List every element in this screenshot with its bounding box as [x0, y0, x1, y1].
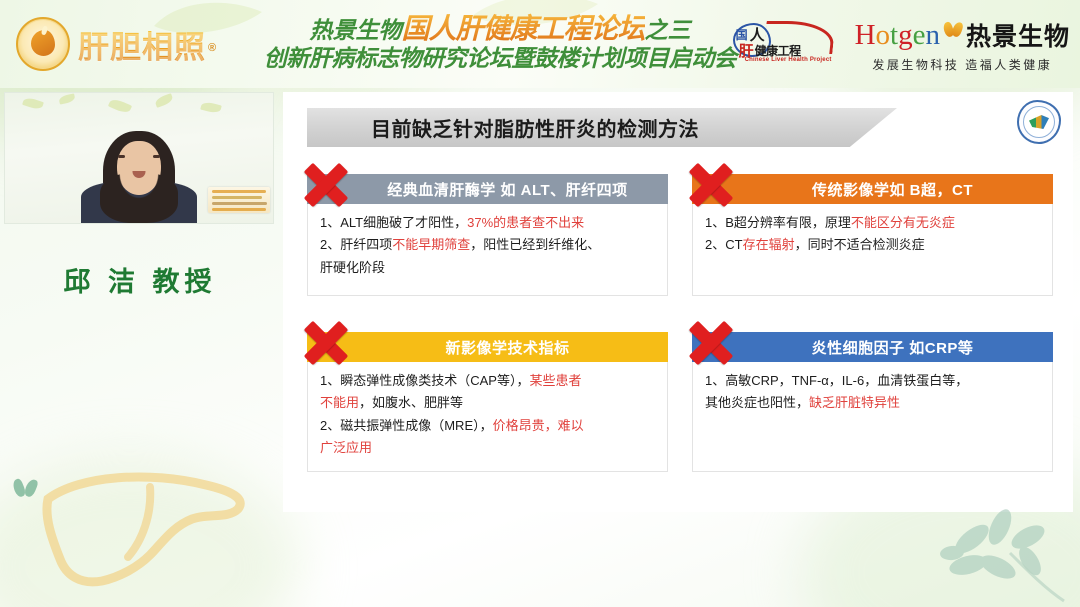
card-header-serum-enzymes: 经典血清肝酶学 如 ALT、肝纤四项 — [307, 174, 668, 204]
clhp-english: Chinese Liver Health Project — [745, 57, 832, 63]
card-header-traditional-imaging: 传统影像学如 B超，CT — [692, 174, 1053, 204]
card-inflammatory-cytokines[interactable]: 炎性细胞因子 如CRP等 1、高敏CRP，TNF-α，IL-6，血清铁蛋白等，其… — [692, 332, 1053, 472]
body-text: ，如腹水、肥胖等 — [359, 395, 463, 410]
card-line: 2、磁共振弹性成像（MRE），价格昂贵，难以 — [320, 415, 657, 437]
body-text: 其他炎症也阳性， — [705, 395, 809, 410]
liver-seal-icon — [16, 17, 70, 71]
body-text: ，阳性已经到纤维化、 — [470, 237, 600, 252]
forum-line2: 创新肝病标志物研究论坛暨鼓楼计划项目启动会 — [250, 46, 750, 70]
card-line: 1、B超分辨率有限，原理不能区分有无炎症 — [705, 212, 1042, 234]
card-row: 新影像学技术指标 1、瞬态弹性成像类技术（CAP等），某些患者不能用，如腹水、肥… — [307, 332, 1053, 472]
highlight-text: 价格昂贵，难以 — [493, 418, 584, 433]
forum-line1-post: 之三 — [645, 17, 691, 43]
body-text: 肝硬化阶段 — [320, 260, 385, 275]
hotgen-logo: Hotgen 热景生物 发展生物科技 造福人类健康 — [855, 17, 1070, 73]
highlight-text: 某些患者 — [529, 373, 581, 388]
brand-logo: 肝胆相照® — [16, 16, 216, 72]
card-header-inflammatory-cytokines: 炎性细胞因子 如CRP等 — [692, 332, 1053, 362]
speaker-name: 邱 洁 教授 — [4, 260, 276, 299]
card-line: 1、ALT细胞破了才阳性，37%的患者查不出来 — [320, 212, 657, 234]
card-line: 其他炎症也阳性，缺乏肝脏特异性 — [705, 392, 1042, 414]
slide-title-bar: 目前缺乏针对脂肪性肝炎的检测方法 — [307, 108, 897, 147]
chinese-liver-health-project-logo: 国 人 肝 健康工程 Chinese Liver Health Project — [731, 17, 841, 73]
card-line: 1、瞬态弹性成像类技术（CAP等），某些患者 — [320, 370, 657, 392]
card-line: 不能用，如腹水、肥胖等 — [320, 392, 657, 414]
forum-line1-mid: 国人肝健康工程论坛 — [401, 13, 644, 44]
hotgen-tagline: 发展生物科技 造福人类健康 — [872, 56, 1052, 73]
body-text: 1、高敏CRP，TNF-α，IL-6，血清铁蛋白等， — [705, 373, 968, 388]
highlight-text: 广泛应用 — [320, 440, 372, 455]
forum-line1-pre: 热景生物 — [309, 17, 401, 43]
video-leaf-icon — [58, 93, 75, 104]
brand-name: 肝胆相照 — [78, 30, 206, 65]
speaker-portrait — [80, 127, 198, 223]
card-body-inflammatory-cytokines: 1、高敏CRP，TNF-α，IL-6，血清铁蛋白等，其他炎症也阳性，缺乏肝脏特异… — [692, 362, 1053, 472]
card-header-new-imaging-tech: 新影像学技术指标 — [307, 332, 668, 362]
card-body-serum-enzymes: 1、ALT细胞破了才阳性，37%的患者查不出来2、肝纤四项不能早期筛查，阳性已经… — [307, 204, 668, 296]
body-text: 1、B超分辨率有限，原理 — [705, 215, 851, 230]
hair-front-shape — [100, 173, 178, 223]
forum-title: 热景生物国人肝健康工程论坛之三 创新肝病标志物研究论坛暨鼓楼计划项目启动会 — [250, 14, 750, 71]
institution-badge-icon — [1017, 100, 1061, 144]
body-text: ，同时不适合检测炎症 — [795, 237, 925, 252]
card-line: 2、CT存在辐射，同时不适合检测炎症 — [705, 234, 1042, 256]
body-text: 2、肝纤四项 — [320, 237, 392, 252]
hotgen-wordmark: Hotgen — [855, 21, 940, 50]
red-x-icon — [299, 316, 353, 370]
red-x-icon — [684, 316, 738, 370]
card-row: 经典血清肝酶学 如 ALT、肝纤四项 1、ALT细胞破了才阳性，37%的患者查不… — [307, 174, 1053, 296]
speaker-video[interactable] — [4, 92, 274, 224]
sponsor-logos: 国 人 肝 健康工程 Chinese Liver Health Project … — [731, 14, 1070, 76]
body-text: 2、磁共振弹性成像（MRE）， — [320, 418, 493, 433]
page-title: 目前缺乏针对脂肪性肝炎的检测方法 — [371, 113, 699, 142]
red-x-icon — [299, 158, 353, 212]
video-leaf-icon — [108, 97, 132, 115]
card-grid: 经典血清肝酶学 如 ALT、肝纤四项 1、ALT细胞破了才阳性，37%的患者查不… — [307, 174, 1053, 472]
liver-outline-icon — [10, 451, 270, 601]
slide-stage: 肝胆相照® 热景生物国人肝健康工程论坛之三 创新肝病标志物研究论坛暨鼓楼计划项目… — [0, 0, 1080, 607]
card-line: 2、肝纤四项不能早期筛查，阳性已经到纤维化、 — [320, 234, 657, 256]
highlight-text: 不能用 — [320, 395, 359, 410]
butterfly-icon — [944, 22, 962, 39]
decor-blob — [0, 457, 300, 607]
video-leaf-icon — [200, 101, 222, 115]
highlight-text: 不能早期筛查 — [392, 237, 470, 252]
body-text: 1、瞬态弹性成像类技术（CAP等）， — [320, 373, 529, 388]
highlight-text: 37%的患者查不出来 — [467, 215, 584, 230]
card-line: 1、高敏CRP，TNF-α，IL-6，血清铁蛋白等， — [705, 370, 1042, 392]
card-line: 肝硬化阶段 — [320, 257, 657, 279]
hotgen-cn-name: 热景生物 — [966, 17, 1070, 53]
highlight-text: 不能区分有无炎症 — [851, 215, 955, 230]
butterfly-icon — [14, 479, 36, 499]
card-body-traditional-imaging: 1、B超分辨率有限，原理不能区分有无炎症2、CT存在辐射，同时不适合检测炎症 — [692, 204, 1053, 296]
video-leaf-icon — [22, 96, 44, 111]
presentation-slide: 目前缺乏针对脂肪性肝炎的检测方法 经典血清肝酶学 如 ALT、肝纤四项 1、AL… — [283, 92, 1073, 512]
body-text: 1、ALT细胞破了才阳性， — [320, 215, 467, 230]
eye-left — [118, 155, 125, 158]
highlight-text: 存在辐射 — [743, 237, 795, 252]
card-new-imaging-tech[interactable]: 新影像学技术指标 1、瞬态弹性成像类技术（CAP等），某些患者不能用，如腹水、肥… — [307, 332, 668, 472]
speaker-panel: 邱 洁 教授 — [4, 92, 276, 299]
red-x-icon — [684, 158, 738, 212]
card-serum-enzymes[interactable]: 经典血清肝酶学 如 ALT、肝纤四项 1、ALT细胞破了才阳性，37%的患者查不… — [307, 174, 668, 296]
body-text: 2、CT — [705, 237, 743, 252]
eye-right — [153, 155, 160, 158]
card-body-new-imaging-tech: 1、瞬态弹性成像类技术（CAP等），某些患者不能用，如腹水、肥胖等2、磁共振弹性… — [307, 362, 668, 472]
card-traditional-imaging[interactable]: 传统影像学如 B超，CT 1、B超分辨率有限，原理不能区分有无炎症2、CT存在辐… — [692, 174, 1053, 296]
event-header-banner: 肝胆相照® 热景生物国人肝健康工程论坛之三 创新肝病标志物研究论坛暨鼓楼计划项目… — [0, 0, 1080, 88]
highlight-text: 缺乏肝脏特异性 — [809, 395, 900, 410]
video-overlay-banner — [208, 187, 270, 213]
card-line: 广泛应用 — [320, 437, 657, 459]
video-leaf-icon — [154, 93, 174, 108]
registered-mark: ® — [208, 42, 216, 54]
